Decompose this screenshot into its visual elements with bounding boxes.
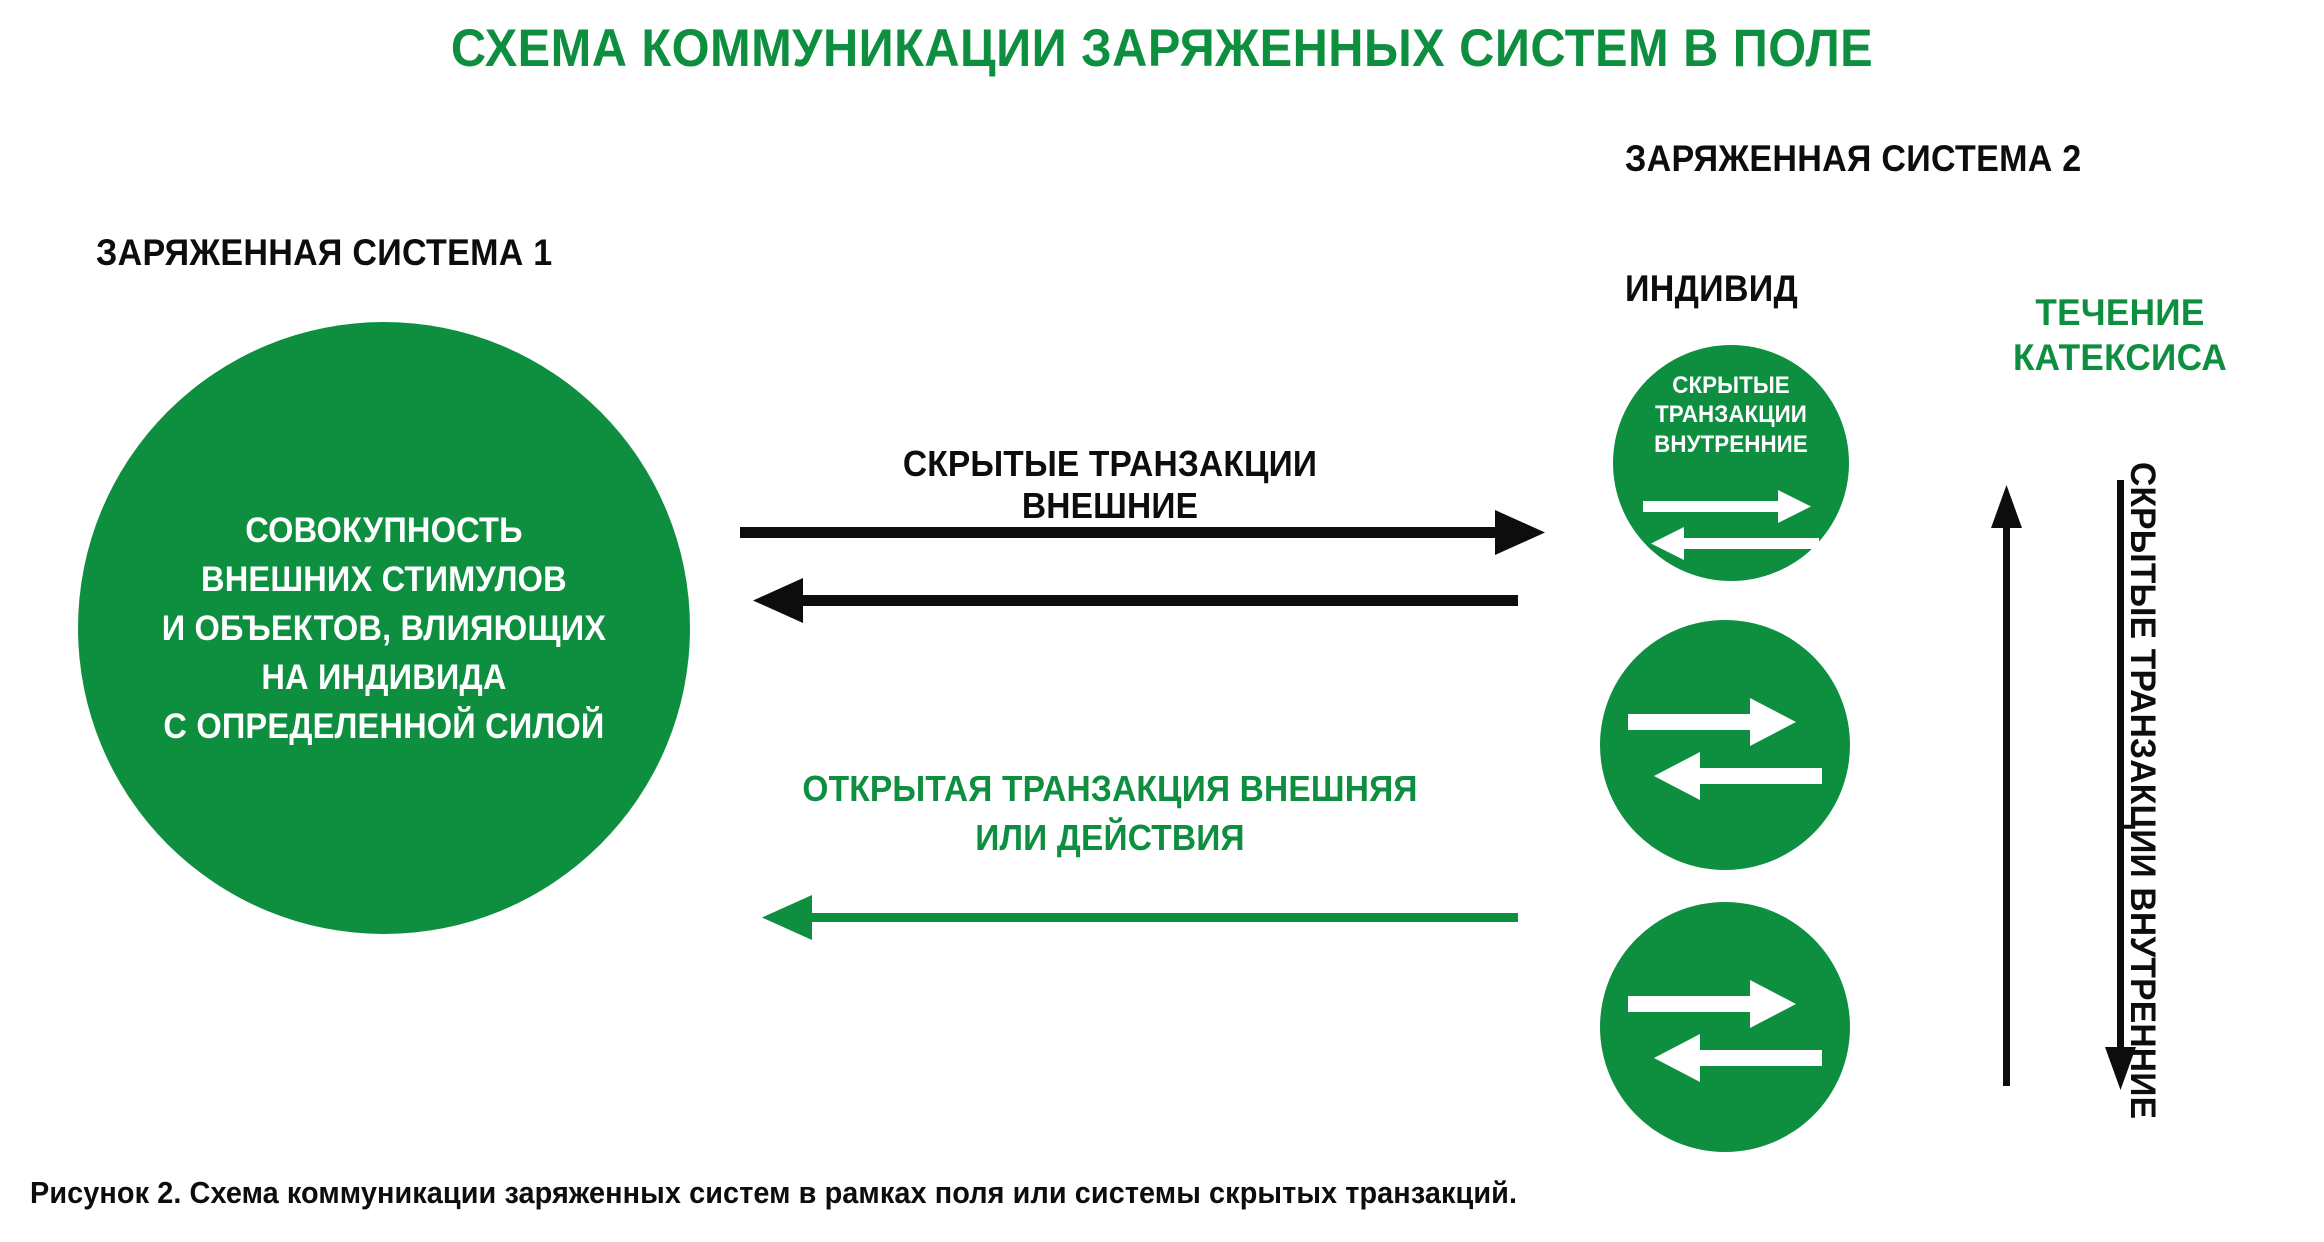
arrow-open-external-left bbox=[762, 895, 1518, 940]
internal-transactions-circle: СКРЫТЫЕ ТРАНЗАКЦИИ ВНУТРЕННИЕ bbox=[1613, 345, 1849, 581]
bidirectional-arrow-icon bbox=[1600, 682, 1850, 808]
arrow-hidden-external-left bbox=[753, 578, 1518, 623]
system1-heading: ЗАРЯЖЕННАЯ СИСТЕМА 1 bbox=[96, 232, 553, 274]
system2-heading: ЗАРЯЖЕННАЯ СИСТЕМА 2 bbox=[1625, 138, 2082, 180]
bidirectional-arrows-group-2 bbox=[1600, 682, 1850, 813]
arrow-cathexis-up bbox=[1991, 485, 2022, 1086]
figure-caption: Рисунок 2. Схема коммуникации заряженных… bbox=[30, 1175, 1517, 1211]
page-title: СХЕМА КОММУНИКАЦИИ ЗАРЯЖЕННЫХ СИСТЕМ В П… bbox=[93, 18, 2231, 79]
bidirectional-arrows-group-3 bbox=[1600, 964, 1850, 1095]
open-external-transaction-label: ОТКРЫТАЯ ТРАНЗАКЦИЯ ВНЕШНЯЯ ИЛИ ДЕЙСТВИЯ bbox=[794, 765, 1426, 862]
transactions-circle-2 bbox=[1600, 620, 1850, 870]
internal-transactions-circle-text: СКРЫТЫЕ ТРАНЗАКЦИИ ВНУТРЕННИЕ bbox=[1621, 371, 1840, 459]
cathexis-flow-label: ТЕЧЕНИЕ КАТЕКСИСА bbox=[1982, 290, 2258, 380]
transactions-circle-3 bbox=[1600, 902, 1850, 1152]
bidirectional-arrows-group-1 bbox=[1613, 477, 1849, 570]
hidden-external-transactions-label: СКРЫТЫЕ ТРАНЗАКЦИИ ВНЕШНИЕ bbox=[822, 443, 1399, 527]
vertical-internal-transactions-label: СКРЫТЫЕ ТРАНЗАКЦИИ ВНУТРЕННИЕ bbox=[2122, 462, 2162, 1119]
system1-circle: СОВОКУПНОСТЬ ВНЕШНИХ СТИМУЛОВ И ОБЪЕКТОВ… bbox=[78, 322, 690, 934]
system2-subheading: ИНДИВИД bbox=[1625, 268, 1798, 310]
bidirectional-arrow-icon bbox=[1613, 477, 1849, 565]
diagram-canvas: СХЕМА КОММУНИКАЦИИ ЗАРЯЖЕННЫХ СИСТЕМ В П… bbox=[0, 0, 2324, 1242]
system1-circle-text: СОВОКУПНОСТЬ ВНЕШНИХ СТИМУЛОВ И ОБЪЕКТОВ… bbox=[162, 506, 606, 751]
bidirectional-arrow-icon bbox=[1600, 964, 1850, 1090]
